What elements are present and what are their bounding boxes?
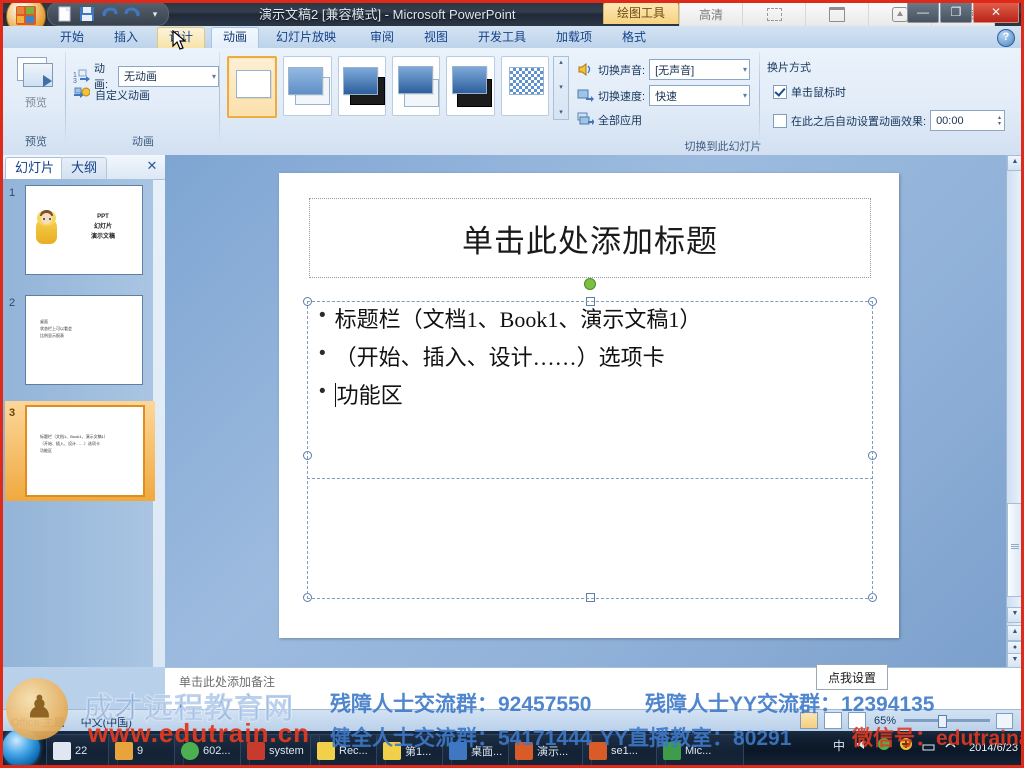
contextual-tab-label: 绘图工具 <box>603 2 679 24</box>
taskbar-item-label: se1... <box>611 745 638 757</box>
tab-slideshow[interactable]: 幻灯片放映 <box>265 27 347 48</box>
group-label-animation: 动画 <box>67 133 219 149</box>
group-label-preview: 预览 <box>7 133 65 149</box>
thumb-line: 演示文稿 <box>70 232 136 242</box>
close-pane-icon[interactable]: ✕ <box>145 159 159 173</box>
gallery-scroll-up-icon[interactable]: ▴ <box>559 59 563 67</box>
redo-icon[interactable] <box>121 5 141 23</box>
settings-popup-button[interactable]: 点我设置 <box>816 664 888 690</box>
taskbar-item-label: 演示... <box>537 743 568 759</box>
transition-speed-label: 切换速度: <box>598 88 645 104</box>
transition-sound-icon <box>577 61 594 78</box>
taskbar-item-10[interactable]: Mic... <box>656 734 744 767</box>
advance-auto-time-spinner[interactable]: 00:00 ▴▾ <box>930 110 1005 131</box>
transition-gallery <box>227 56 549 120</box>
status-bar: Office 主题 中文(中国) 65% <box>3 709 1021 732</box>
new-document-icon[interactable] <box>55 5 75 23</box>
ribbon-group-animation: 13 动画: 无动画 ▾ 自定义动画 动画 <box>67 50 219 150</box>
region-select-icon[interactable] <box>743 2 806 26</box>
wireless-icon[interactable] <box>943 737 958 752</box>
svg-text:3: 3 <box>73 78 77 85</box>
status-language: 中文(中国) <box>81 714 132 730</box>
zoom-level: 65% <box>872 715 898 727</box>
tab-animations[interactable]: 动画 <box>211 27 259 50</box>
group-label-transitions: 切换到此幻灯片 <box>573 138 873 154</box>
powerpoint-window: ▾ 演示文稿2 [兼容模式] - Microsoft PowerPoint 绘图… <box>3 0 1021 765</box>
group-divider <box>65 52 66 142</box>
preview-button[interactable]: 预览 <box>13 54 59 124</box>
customize-qat-icon[interactable]: ▾ <box>148 9 162 20</box>
close-button[interactable]: ✕ <box>973 1 1019 23</box>
tab-home[interactable]: 开始 <box>49 27 95 48</box>
vertical-scrollbar[interactable]: ▲ ▼ ▲ ● ▼ <box>1006 155 1021 667</box>
rotate-handle[interactable] <box>584 278 596 290</box>
thumb-line: 幻灯片 <box>70 222 136 232</box>
tab-format[interactable]: 格式 <box>611 27 657 48</box>
taskbar-item-label: Rec... <box>339 745 368 757</box>
taskbar-item-3[interactable]: 602... <box>174 734 250 767</box>
thumb-line: 标题栏（文档1、Book1、演示文稿1） <box>40 433 108 440</box>
apply-to-all-icon <box>577 111 594 128</box>
chevron-down-icon: ▾ <box>206 72 216 81</box>
gallery-scroll-down-icon[interactable]: ▾ <box>559 84 563 92</box>
taskbar-item-label: 602... <box>203 745 231 757</box>
taskbar-item-6[interactable]: 第1... <box>376 734 452 767</box>
taskbar-item-label: system <box>269 745 304 757</box>
slide-number: 1 <box>9 187 15 199</box>
ribbon-group-preview: 预览 预览 <box>7 50 65 150</box>
transition-dissolve[interactable] <box>501 56 549 116</box>
animate-dropdown[interactable]: 无动画 ▾ <box>118 66 219 87</box>
view-slide-sorter[interactable] <box>824 712 842 729</box>
start-button[interactable] <box>2 729 40 767</box>
transition-fade-smoothly[interactable] <box>338 56 386 116</box>
office-logo-icon <box>16 6 36 25</box>
taskbar-item-label: Mic... <box>685 745 711 757</box>
preview-icon <box>17 57 55 91</box>
taskbar-item-5[interactable]: Rec... <box>310 734 386 767</box>
title-placeholder-text: 单击此处添加标题 <box>462 216 718 261</box>
undo-icon[interactable] <box>99 5 119 23</box>
tab-view[interactable]: 视图 <box>413 27 459 48</box>
thumb-line: 比例显示报表 <box>40 332 72 339</box>
ribbon: 预览 预览 13 动画: 无动画 ▾ 自定义动画 <box>3 48 1021 156</box>
preview-button-label: 预览 <box>25 94 47 110</box>
advance-on-click-checkbox[interactable] <box>773 85 787 99</box>
gallery-scrollbar[interactable]: ▴ ▾ ▾ <box>553 56 569 120</box>
view-normal[interactable] <box>800 712 818 729</box>
spinner-arrows-icon[interactable]: ▴▾ <box>998 115 1004 127</box>
minimize-button[interactable]: — <box>907 1 939 23</box>
window-title: 演示文稿2 [兼容模式] - Microsoft PowerPoint <box>259 4 515 23</box>
slide-thumbnail-canvas: 桌面 状态栏上可以看会 比例显示报表 <box>25 295 143 385</box>
slide-thumbnail-canvas: 标题栏（文档1、Book1、演示文稿1） （开始、插入、设计……）选项卡 功能区 <box>25 405 145 497</box>
tab-insert[interactable]: 插入 <box>103 27 149 48</box>
group-divider <box>759 52 760 142</box>
volume-icon[interactable] <box>855 737 870 752</box>
animate-value: 无动画 <box>124 68 157 84</box>
transition-sound-label: 切换声音: <box>598 62 645 78</box>
system-tray: 中 <box>833 737 958 752</box>
slide-thumbnail-2[interactable]: 2 桌面 状态栏上可以看会 比例显示报表 <box>3 295 153 397</box>
transition-sound-dropdown[interactable]: [无声音] ▾ <box>649 59 750 80</box>
transition-sound-value: [无声音] <box>655 62 694 78</box>
animate-icon: 13 <box>73 68 90 85</box>
thumb-line: PPT <box>70 212 136 222</box>
thumb-line: （开始、插入、设计……）选项卡 <box>40 440 108 447</box>
network-icon[interactable] <box>921 737 936 752</box>
ribbon-group-advance-slide: 换片方式 单击鼠标时 在此之后自动设置动画效果: 00:00 ▴▾ <box>763 50 1021 150</box>
thumb-line: 状态栏上可以看会 <box>40 325 72 332</box>
ribbon-tab-strip: 开始 插入 设计 动画 幻灯片放映 审阅 视图 开发工具 加载项 格式 ? <box>3 26 1021 48</box>
chevron-down-icon: ▾ <box>737 91 747 100</box>
thumb-line: 功能区 <box>40 447 108 454</box>
view-slideshow[interactable] <box>848 712 866 729</box>
window-capture-icon[interactable] <box>806 2 869 26</box>
advance-slide-title: 换片方式 <box>767 59 811 75</box>
notes-placeholder: 单击此处添加备注 <box>179 673 275 690</box>
group-divider <box>219 52 220 142</box>
zoom-slider[interactable] <box>904 719 990 722</box>
slides-pane-tabs: 幻灯片 大纲 ✕ <box>3 155 165 180</box>
slide-thumbnail-list[interactable]: 1 PPT 幻灯片 演示文稿 2 <box>3 179 153 667</box>
hd-quality-button[interactable]: 高清 <box>680 2 743 26</box>
window-controls: — ❐ ✕ <box>906 1 1019 23</box>
tab-developer[interactable]: 开发工具 <box>467 27 537 48</box>
gallery-more-icon[interactable]: ▾ <box>559 109 563 117</box>
title-placeholder[interactable]: 单击此处添加标题 <box>309 198 871 278</box>
save-icon[interactable] <box>77 5 97 23</box>
ribbon-group-transition-options: 切换声音: [无声音] ▾ 切换速度: 快速 ▾ <box>573 50 759 150</box>
thumb-line: 桌面 <box>40 318 72 325</box>
mouse-cursor <box>172 30 188 52</box>
slides-pane: 幻灯片 大纲 ✕ 1 PPT 幻灯片 演示文稿 <box>3 155 166 667</box>
taskbar-item-label: 第1... <box>405 743 431 759</box>
custom-animation-icon <box>73 86 90 103</box>
transition-speed-icon <box>577 87 594 104</box>
transition-push-down[interactable] <box>446 56 494 116</box>
advance-auto-time-value: 00:00 <box>936 115 964 127</box>
tab-review[interactable]: 审阅 <box>359 27 405 48</box>
ime-icon[interactable]: 中 <box>833 737 848 752</box>
antivirus-icon[interactable] <box>877 737 892 752</box>
tab-addins[interactable]: 加载项 <box>545 27 603 48</box>
slide-thumbnail-1[interactable]: 1 PPT 幻灯片 演示文稿 <box>3 185 153 287</box>
taskbar-item-2[interactable]: 9 <box>108 734 184 767</box>
maximize-button[interactable]: ❐ <box>940 1 972 23</box>
custom-animation-button[interactable]: 自定义动画 <box>95 87 150 103</box>
slide-thumbnail-3[interactable]: 3 标题栏（文档1、Book1、演示文稿1） （开始、插入、设计……）选项卡 功… <box>3 405 153 507</box>
scrollbar-thumb[interactable] <box>1007 503 1023 597</box>
slide-canvas[interactable]: 单击此处添加标题 • 标题栏（文档1、Book1、演示文稿1） • （开始、插入… <box>279 173 899 638</box>
quick-access-toolbar: ▾ <box>47 2 169 26</box>
taskbar-item-7[interactable]: 桌面... <box>442 734 518 767</box>
tab-outline[interactable]: 大纲 <box>61 157 107 180</box>
transition-none[interactable] <box>227 56 277 118</box>
notes-pane[interactable]: 单击此处添加备注 <box>165 667 1021 710</box>
apply-to-all-button[interactable]: 全部应用 <box>598 112 642 128</box>
transition-cut[interactable] <box>283 56 331 116</box>
taskbar-item-8[interactable]: 演示... <box>508 734 592 767</box>
taskbar-item-9[interactable]: se1... <box>582 734 666 767</box>
advance-auto-checkbox[interactable] <box>773 114 787 128</box>
previous-slide-icon[interactable]: ▲ <box>1007 625 1023 641</box>
chevron-down-icon: ▾ <box>737 65 747 74</box>
slide-number: 2 <box>9 297 15 309</box>
mascot-illustration-icon <box>34 208 60 248</box>
scroll-up-icon[interactable]: ▲ <box>1007 155 1023 171</box>
ribbon-group-transitions: ▴ ▾ ▾ <box>221 50 571 150</box>
slide-thumbnail-canvas: PPT 幻灯片 演示文稿 <box>25 185 143 275</box>
windows-taskbar: 22 9 602... system Rec... 第1... 桌面... 演示… <box>0 731 1024 768</box>
slide-number: 3 <box>9 407 15 419</box>
transition-fade-through-black[interactable] <box>392 56 440 116</box>
advance-on-click-label: 单击鼠标时 <box>791 84 846 100</box>
transition-speed-dropdown[interactable]: 快速 ▾ <box>649 85 750 106</box>
title-bar: ▾ 演示文稿2 [兼容模式] - Microsoft PowerPoint 绘图… <box>3 0 1021 26</box>
office-button[interactable] <box>6 0 46 26</box>
fit-to-window-button[interactable] <box>996 713 1013 729</box>
status-theme: Office 主题 <box>11 714 65 730</box>
slide-editing-area[interactable]: 单击此处添加标题 • 标题栏（文档1、Book1、演示文稿1） • （开始、插入… <box>165 155 1007 667</box>
plus-icon[interactable] <box>899 737 914 752</box>
scroll-down-icon[interactable]: ▼ <box>1007 607 1023 623</box>
taskbar-item-label: 22 <box>75 745 87 757</box>
body-selection-outline <box>307 301 873 599</box>
taskbar-item-4[interactable]: system <box>240 734 320 767</box>
advance-auto-label: 在此之后自动设置动画效果: <box>791 113 926 129</box>
taskbar-item-label: 9 <box>137 745 143 757</box>
taskbar-clock[interactable]: 2014/6/23 <box>969 742 1018 754</box>
transition-speed-value: 快速 <box>655 88 677 104</box>
taskbar-item-label: 桌面... <box>471 743 502 759</box>
help-icon[interactable]: ? <box>997 29 1015 47</box>
tab-slides[interactable]: 幻灯片 <box>5 157 64 180</box>
